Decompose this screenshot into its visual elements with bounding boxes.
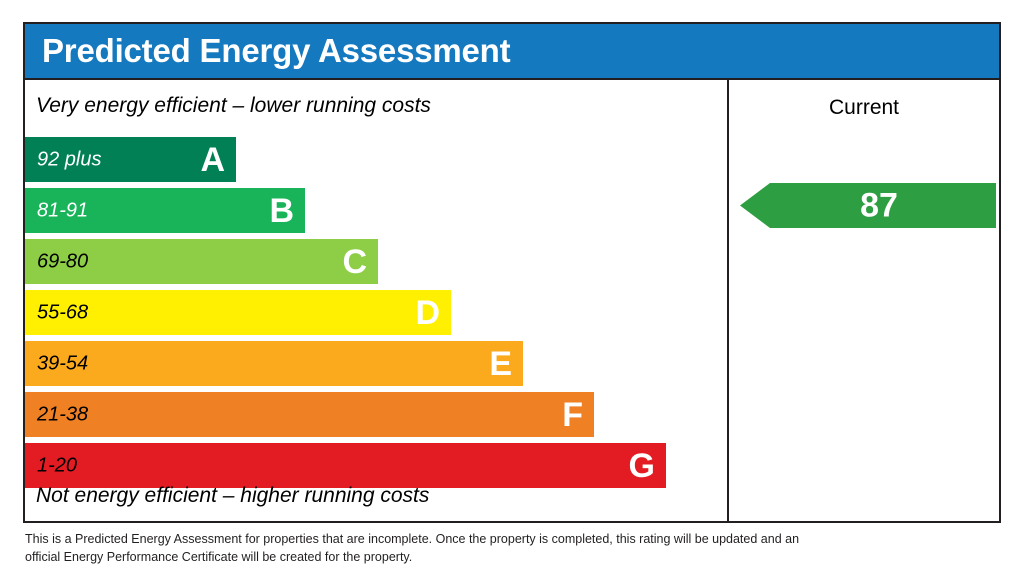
band-letter-f: F xyxy=(562,398,583,432)
band-bar-c: 69-80 C xyxy=(25,239,378,284)
band-letter-d: D xyxy=(415,296,440,330)
band-row-e: 39-54 E xyxy=(25,341,727,386)
band-bar-e: 39-54 E xyxy=(25,341,523,386)
caption-efficient: Very energy efficient – lower running co… xyxy=(36,94,431,118)
band-range-c: 69-80 xyxy=(37,250,88,273)
band-letter-a: A xyxy=(200,143,225,177)
band-row-d: 55-68 D xyxy=(25,290,727,335)
band-letter-c: C xyxy=(342,245,367,279)
certificate-frame: Predicted Energy Assessment Very energy … xyxy=(23,22,1001,523)
current-column-header: Current xyxy=(729,96,999,120)
caption-inefficient: Not energy efficient – higher running co… xyxy=(36,484,429,508)
page-title: Predicted Energy Assessment xyxy=(42,32,510,70)
band-bar-g: 1-20 G xyxy=(25,443,666,488)
current-rating-pane: Current 87 xyxy=(729,80,999,521)
title-bar: Predicted Energy Assessment xyxy=(25,24,999,78)
certificate-body: Very energy efficient – lower running co… xyxy=(25,78,999,521)
band-letter-g: G xyxy=(629,449,655,483)
band-range-a: 92 plus xyxy=(37,148,102,171)
band-range-f: 21-38 xyxy=(37,403,88,426)
band-row-a: 92 plus A xyxy=(25,137,727,182)
band-row-b: 81-91 B xyxy=(25,188,727,233)
epc-certificate: Predicted Energy Assessment Very energy … xyxy=(0,0,1024,576)
current-rating-arrow: 87 xyxy=(740,183,996,228)
band-letter-e: E xyxy=(489,347,512,381)
band-range-g: 1-20 xyxy=(37,454,77,477)
band-row-c: 69-80 C xyxy=(25,239,727,284)
band-bar-f: 21-38 F xyxy=(25,392,594,437)
arrow-left-icon xyxy=(740,183,996,228)
band-row-g: 1-20 G xyxy=(25,443,727,488)
band-range-d: 55-68 xyxy=(37,301,88,324)
band-bar-b: 81-91 B xyxy=(25,188,305,233)
band-range-e: 39-54 xyxy=(37,352,88,375)
energy-scale-pane: Very energy efficient – lower running co… xyxy=(25,80,729,521)
footnote-text: This is a Predicted Energy Assessment fo… xyxy=(25,531,825,567)
band-range-b: 81-91 xyxy=(37,199,88,222)
band-letter-b: B xyxy=(269,194,294,228)
band-bar-d: 55-68 D xyxy=(25,290,451,335)
band-bar-a: 92 plus A xyxy=(25,137,236,182)
band-row-f: 21-38 F xyxy=(25,392,727,437)
band-list: 92 plus A 81-91 B 69-80 C xyxy=(25,137,727,494)
